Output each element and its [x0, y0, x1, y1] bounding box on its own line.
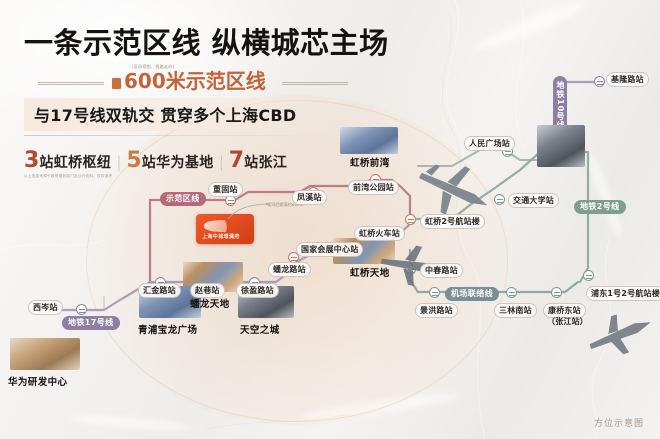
airplane-icon-hongqiao	[412, 160, 496, 222]
poster-background: 一条示范区线 纵横城芯主场 (区间规划、线路走向) 600米示范区线 与17号线…	[0, 0, 660, 439]
station-label-fengxi[interactable]: 凤溪站	[292, 190, 327, 205]
station-label-jinghonglu[interactable]: 景洪路站	[415, 303, 458, 318]
station-label-nechc[interactable]: 国家会展中心站	[296, 242, 363, 257]
station-label-jiaotonguniv[interactable]: 交通大学站	[508, 193, 559, 208]
project-badge-label: 上海中城璟澜府	[202, 233, 240, 240]
station-label-pudong-terminals[interactable]: 浦东1号2号航站楼	[586, 286, 660, 301]
station-node-kangqiaodong[interactable]	[551, 287, 562, 298]
landmark-label-tiankong-zhicheng: 天空之城	[240, 322, 280, 336]
landmark-label-qingpu-baolong: 青浦宝龙广场	[138, 322, 197, 336]
station-node-jinghonglu[interactable]	[429, 287, 440, 298]
station-label-xuyinglu[interactable]: 徐盈路站	[236, 283, 279, 298]
airplane-icon-pudong	[585, 310, 657, 358]
station-node-pudongterm[interactable]	[583, 270, 594, 281]
landmark-label-huawei-center: 华为研发中心	[8, 374, 67, 388]
line-badge-metro2[interactable]: 地铁2号线	[574, 200, 626, 214]
landmark-photo-hongqiao-qianwan	[340, 127, 398, 154]
station-label-hqterminal2[interactable]: 虹桥2号航站楼	[420, 214, 485, 229]
station-label-jilonglu[interactable]: 基隆路站	[606, 72, 649, 87]
station-label-hqrailway[interactable]: 虹桥火车站	[354, 226, 405, 241]
station-node-jilonglu[interactable]	[594, 76, 605, 87]
line-badge-demo[interactable]: 示范区线	[160, 192, 206, 206]
station-label-xicen[interactable]: 西岑站	[28, 300, 63, 315]
transit-lines-svg	[0, 0, 660, 439]
landmark-photo-huawei-center	[10, 338, 80, 370]
project-logo-mark	[204, 220, 248, 232]
transit-map: 示范区线 地铁17号线 地铁10号线 地铁2号线 机场联络线	[0, 0, 660, 439]
station-label-zhangjiang-alias[interactable]: （张江站）	[545, 316, 590, 327]
station-node-sanlinnan[interactable]	[506, 287, 517, 298]
station-label-sanlinnan[interactable]: 三林南站	[494, 303, 537, 318]
landmark-label-panlong-tiandi: 蟠龙天地	[190, 296, 230, 310]
station-label-renminsq[interactable]: 人民广场站	[464, 136, 515, 151]
line-badge-airport[interactable]: 机场联络线	[445, 287, 499, 301]
station-label-qianwanpark[interactable]: 前湾公园站	[348, 180, 399, 195]
station-label-huijinlu[interactable]: 汇金路站	[138, 283, 181, 298]
landmark-label-hongqiao-tiandi: 虹桥天地	[350, 265, 390, 279]
station-label-zhongchunlu[interactable]: 中春路站	[420, 263, 463, 278]
station-node-xicen[interactable]	[76, 304, 87, 315]
orientation-note: 方位示意图	[594, 416, 644, 429]
station-label-panlonglu[interactable]: 蟠龙路站	[268, 262, 311, 277]
station-label-chonggu[interactable]: 重固站	[208, 182, 243, 197]
line-badge-metro17[interactable]: 地铁17号线	[62, 316, 120, 330]
landmark-label-hongqiao-qianwan: 虹桥前湾	[350, 155, 390, 169]
landmark-photo-shanghai-tower	[537, 125, 585, 167]
